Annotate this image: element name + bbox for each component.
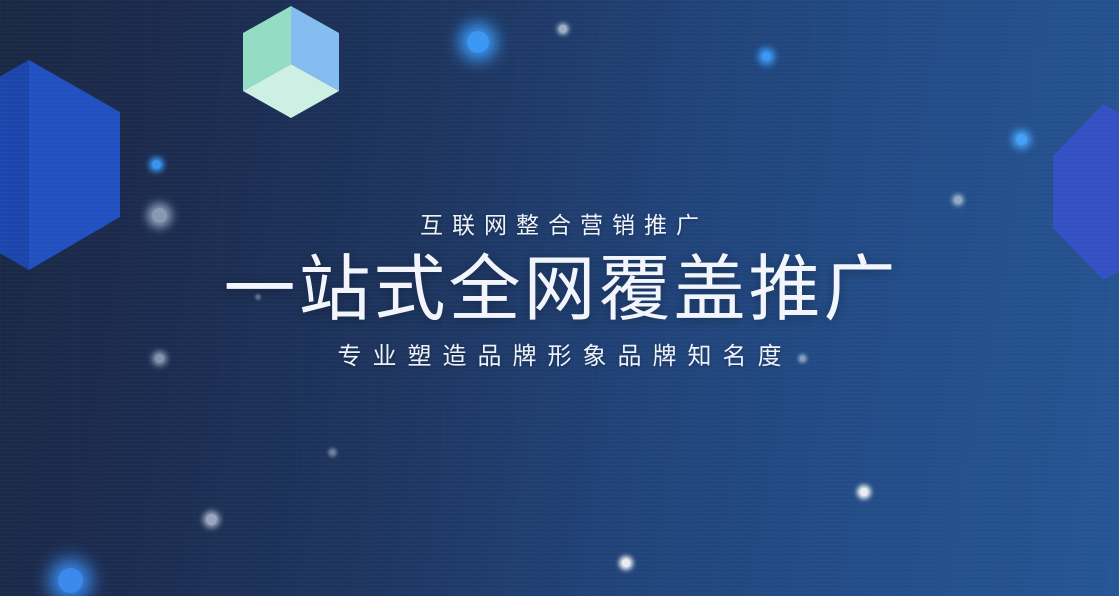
glow-dot: [860, 488, 868, 496]
glow-dot: [954, 196, 962, 204]
hero-text-block: 互联网整合营销推广 一站式全网覆盖推广 专业塑造品牌形象品牌知名度: [0, 212, 1119, 372]
cube-logo-icon: [243, 6, 339, 118]
hero-headline: 一站式全网覆盖推广: [0, 252, 1119, 330]
glow-dot: [467, 31, 489, 53]
glow-dot: [622, 559, 630, 567]
glow-dot: [58, 568, 83, 593]
glow-dot: [152, 160, 161, 169]
hero-subline: 专业塑造品牌形象品牌知名度: [0, 343, 1119, 372]
glow-dot: [762, 52, 771, 61]
glow-dot: [330, 450, 335, 455]
glow-dot: [206, 514, 217, 525]
glow-dot: [559, 25, 567, 33]
hero-banner: 互联网整合营销推广 一站式全网覆盖推广 专业塑造品牌形象品牌知名度: [0, 0, 1119, 596]
glow-dot: [1016, 134, 1027, 145]
hero-eyebrow: 互联网整合营销推广: [0, 212, 1119, 240]
